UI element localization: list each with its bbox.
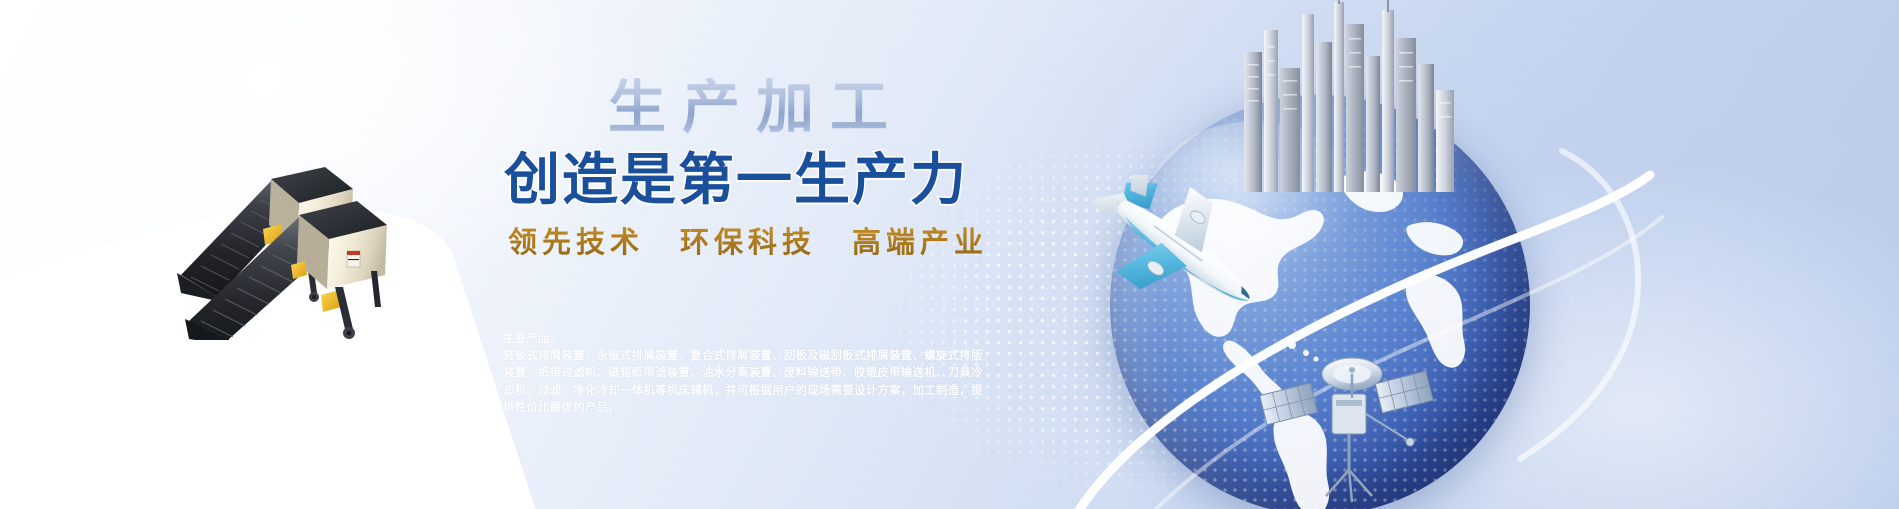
tagline-group: 领先技术 环保科技 高端产业	[500, 219, 1420, 261]
tagline-item-2: 环保科技	[680, 219, 816, 261]
product-description-line: 装置、纸带过滤机、磁辊纸带滤装置、油水分离装置、废料输送带、胶辊皮带输送机、刀具…	[503, 364, 1263, 381]
promotional-banner: 生产加工 创造是第一生产力 领先技术 环保科技 高端产业 主要产品: 链板式排屑…	[0, 0, 1899, 509]
satellite-icon	[1260, 330, 1450, 509]
headline-text-block: 生产加工 创造是第一生产力 领先技术 环保科技 高端产业	[500, 78, 1420, 261]
chip-conveyor-machines-graphic	[175, 125, 515, 340]
product-description: 主要产品: 链板式排屑装置、永磁式排屑装置、复合式排屑装置、刮板及磁刮板式排屑装…	[503, 330, 1263, 416]
page-title: 生产加工	[500, 78, 1420, 136]
product-description-line: 链板式排屑装置、永磁式排屑装置、复合式排屑装置、刮板及磁刮板式排屑装置、螺旋式排…	[503, 347, 1263, 364]
tagline-item-1: 领先技术	[508, 219, 644, 261]
product-description-line: 供性价比最优的产品。	[503, 399, 1263, 416]
subheadline: 创造是第一生产力	[500, 152, 1420, 211]
tagline-item-3: 高端产业	[852, 219, 988, 261]
product-description-label: 主要产品:	[503, 330, 1263, 347]
product-description-line: 却机、过滤、净化冷却一体机等机床辅机，并可根据用户的现场需要设计方案，加工制造，…	[503, 382, 1263, 399]
